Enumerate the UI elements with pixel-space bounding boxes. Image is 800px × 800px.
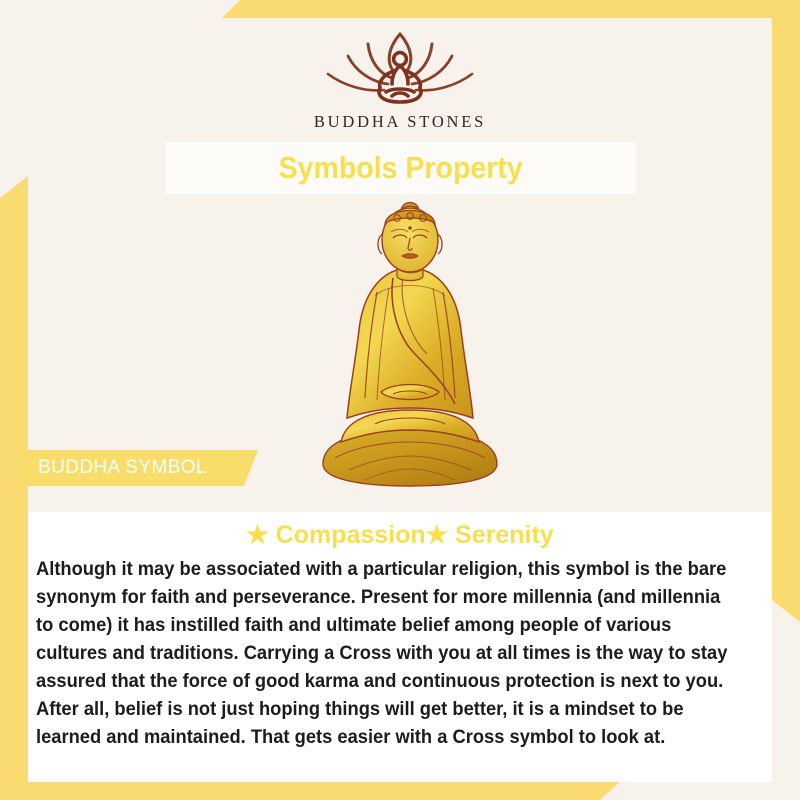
page-title: Symbols Property [278,150,522,186]
decorative-strip-bottom [0,782,620,800]
category-tag-label: BUDDHA SYMBOL [18,457,207,479]
brand-logo: BUDDHA STONES [0,22,800,132]
decorative-strip-top [222,0,800,18]
body-copy: Although it may be associated with a par… [36,556,731,752]
brand-wordmark: BUDDHA STONES [0,112,800,132]
attributes-heading: ★ Compassion★ Serenity [28,520,772,550]
decorative-strip-left [0,176,28,800]
content-panel: ★ Compassion★ Serenity Although it may b… [28,512,772,782]
golden-seated-buddha-statue-icon [305,196,515,496]
title-banner: Symbols Property [165,142,636,194]
poster-canvas: BUDDHA STONES Symbols Property [0,0,800,800]
lotus-meditation-figure-icon [314,22,486,110]
category-tag: BUDDHA SYMBOL [18,450,258,486]
